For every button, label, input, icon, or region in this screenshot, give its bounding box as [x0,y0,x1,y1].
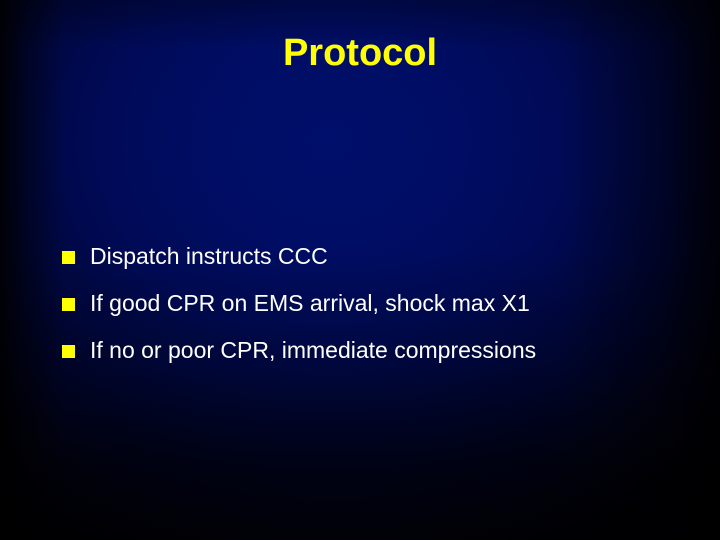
bullet-list: Dispatch instructs CCC If good CPR on EM… [62,240,682,381]
bullet-list-item-label: If no or poor CPR, immediate compression… [90,334,682,366]
presentation-slide: Protocol Dispatch instructs CCC If good … [0,0,720,540]
bullet-list-item-label: Dispatch instructs CCC [90,240,682,272]
filled-square-bullet-icon [62,345,75,358]
bullet-list-item: Dispatch instructs CCC [62,240,682,287]
bullet-list-item-label: If good CPR on EMS arrival, shock max X1 [90,287,682,319]
bullet-list-item: If no or poor CPR, immediate compression… [62,334,682,381]
filled-square-bullet-icon [62,298,75,311]
bullet-list-item: If good CPR on EMS arrival, shock max X1 [62,287,682,334]
slide-title: Protocol [0,30,720,76]
filled-square-bullet-icon [62,251,75,264]
